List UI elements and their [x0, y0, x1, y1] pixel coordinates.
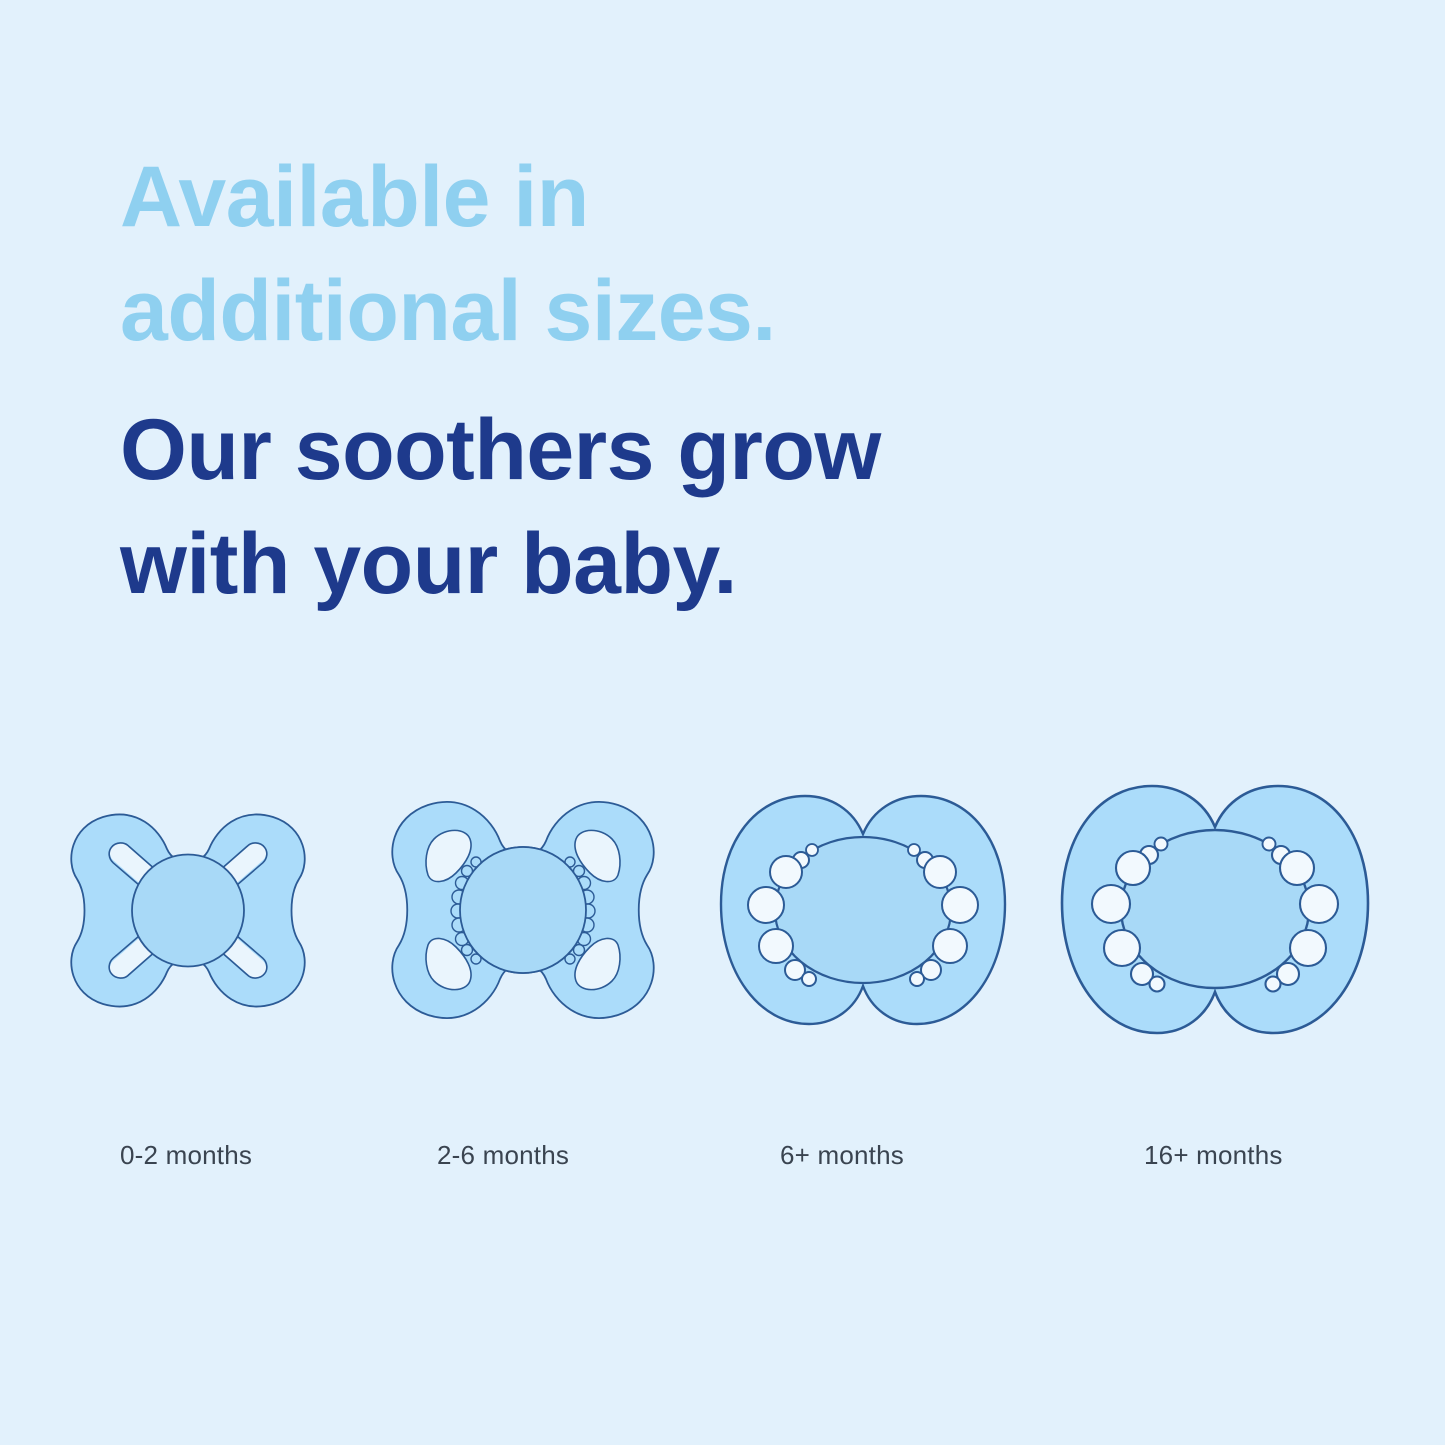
headline-block: Available in additional sizes. Our sooth… [120, 140, 1020, 622]
size-label-row: 0-2 months 2-6 months 6+ months 16+ mont… [0, 1140, 1445, 1184]
teat-ring-top [460, 847, 586, 973]
size-label-6-plus-months: 6+ months [780, 1140, 904, 1171]
soother-icon-6-plus-months [713, 788, 1013, 1032]
size-label-2-6-months: 2-6 months [437, 1140, 569, 1171]
soother-figure-2-6-months [355, 770, 690, 1050]
soother-icon-16-plus-months [1054, 779, 1376, 1041]
eyebrow-heading: Available in additional sizes. [120, 140, 1020, 369]
size-label-0-2-months: 0-2 months [120, 1140, 252, 1171]
soother-figure-0-2-months [20, 770, 355, 1050]
teat-ring [132, 854, 244, 966]
soother-size-infographic: Available in additional sizes. Our sooth… [0, 0, 1445, 1445]
soother-icon-2-6-months [382, 789, 664, 1031]
soother-illustration-row [0, 770, 1445, 1050]
size-label-16-plus-months: 16+ months [1144, 1140, 1283, 1171]
soother-icon-0-2-months [63, 803, 313, 1018]
soother-figure-16-plus-months [1035, 770, 1395, 1050]
main-heading: Our soothers grow with your baby. [120, 393, 1020, 622]
soother-figure-6-plus-months [690, 770, 1035, 1050]
